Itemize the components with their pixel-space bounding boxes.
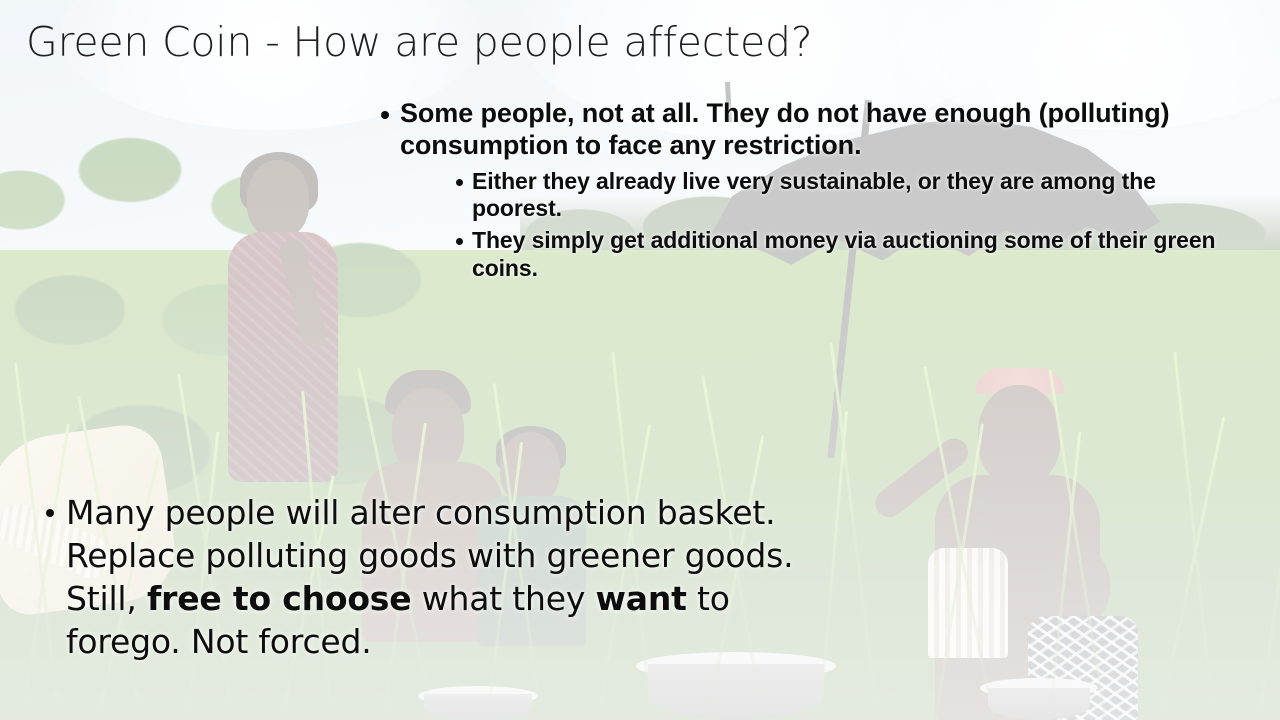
bullet-dot-icon [46, 509, 54, 517]
slide-content: Green Coin - How are people affected? So… [0, 0, 1280, 720]
bullet-dot-icon [456, 179, 463, 186]
sub-bullet-text: Either they already live very sustainabl… [472, 168, 1156, 222]
page-title: Green Coin - How are people affected? [26, 20, 1126, 66]
list-item: Some people, not at all. They do not hav… [374, 98, 1234, 282]
list-item: They simply get additional money via auc… [450, 227, 1234, 282]
slide-canvas: Green Coin - How are people affected? So… [0, 0, 1280, 720]
list-item: Many people will alter consumption baske… [38, 492, 798, 664]
bullet-dot-icon [456, 238, 463, 245]
bullet-list-level1: Some people, not at all. They do not hav… [374, 98, 1234, 282]
list-item: Either they already live very sustainabl… [450, 168, 1234, 223]
bottom-bullet-text: Many people will alter consumption baske… [66, 493, 793, 661]
text-run: what they [411, 579, 595, 618]
main-bullet-block: Some people, not at all. They do not hav… [374, 98, 1234, 286]
bold-text-run: want [595, 579, 686, 618]
bottom-bullet-block: Many people will alter consumption baske… [38, 492, 798, 664]
bullet-text: Some people, not at all. They do not hav… [400, 98, 1170, 160]
bold-text-run: free to choose [147, 579, 411, 618]
sub-bullet-text: They simply get additional money via auc… [472, 227, 1216, 281]
bullet-list-level2: Either they already live very sustainabl… [400, 168, 1234, 282]
bullet-dot-icon [381, 111, 389, 119]
